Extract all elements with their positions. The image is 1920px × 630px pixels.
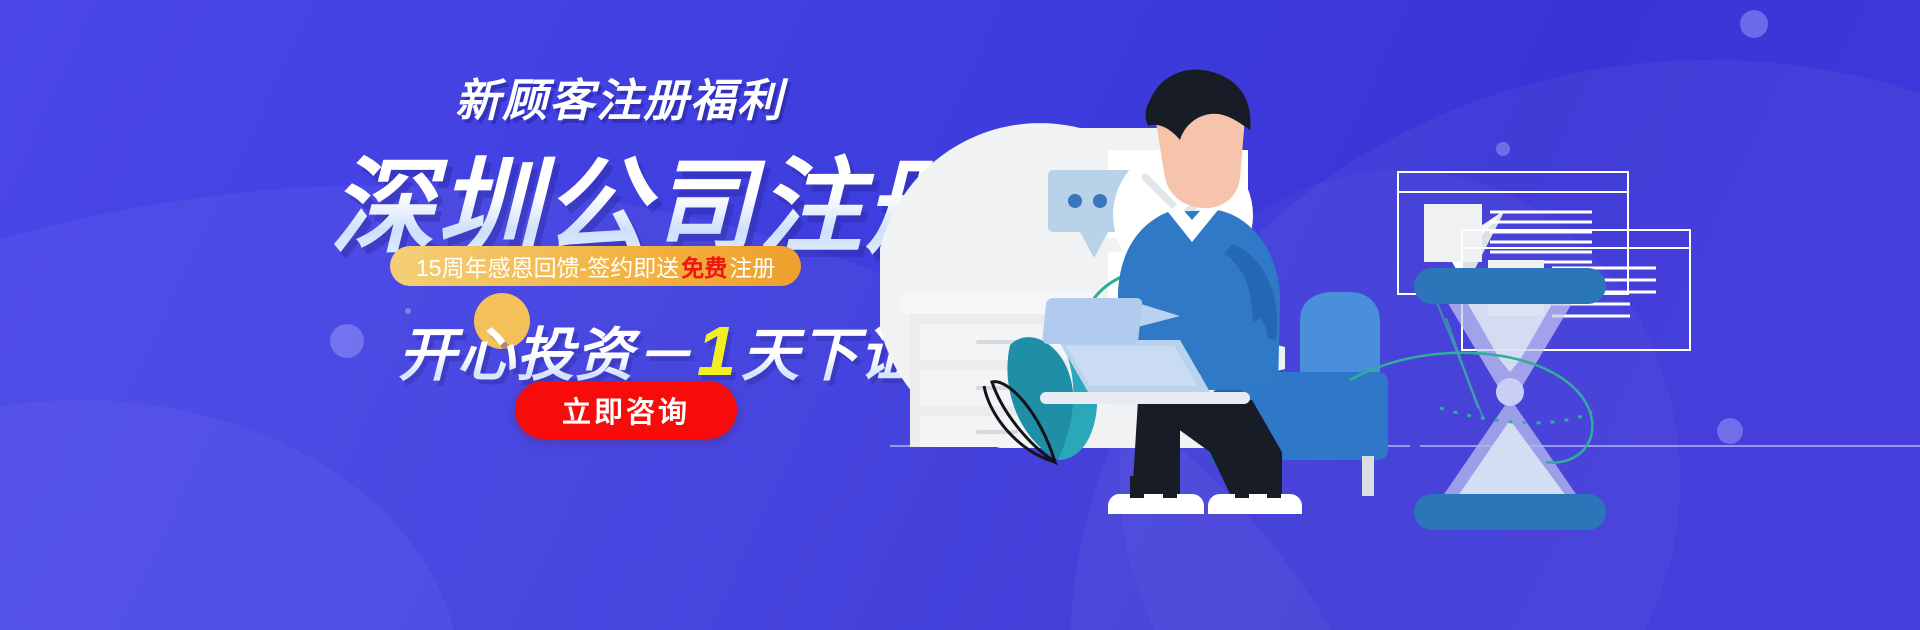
consult-now-button[interactable]: 立即咨询	[515, 381, 737, 439]
hero-illustration	[880, 0, 1920, 630]
offer-pill-highlight: 免费	[679, 249, 729, 283]
tagline-before: 开心投资－	[398, 323, 693, 388]
promo-banner: 新顾客注册福利 深圳公司注册 15周年感恩回馈-签约即送 免费 注册 开心投资－…	[0, 0, 1920, 630]
document-card-back-thumb	[1424, 204, 1482, 262]
tagline: 开心投资－1天下证	[398, 308, 918, 392]
offer-pill-suffix: 注册	[729, 249, 775, 283]
offer-pill-prefix: 15周年感恩回馈-签约即送	[416, 249, 679, 283]
tagline-number: 1	[693, 312, 741, 390]
eyebrow-text: 新顾客注册福利	[455, 64, 784, 129]
offer-pill: 15周年感恩回馈-签约即送 免费 注册	[390, 246, 801, 286]
hourglass-icon	[1414, 268, 1606, 530]
